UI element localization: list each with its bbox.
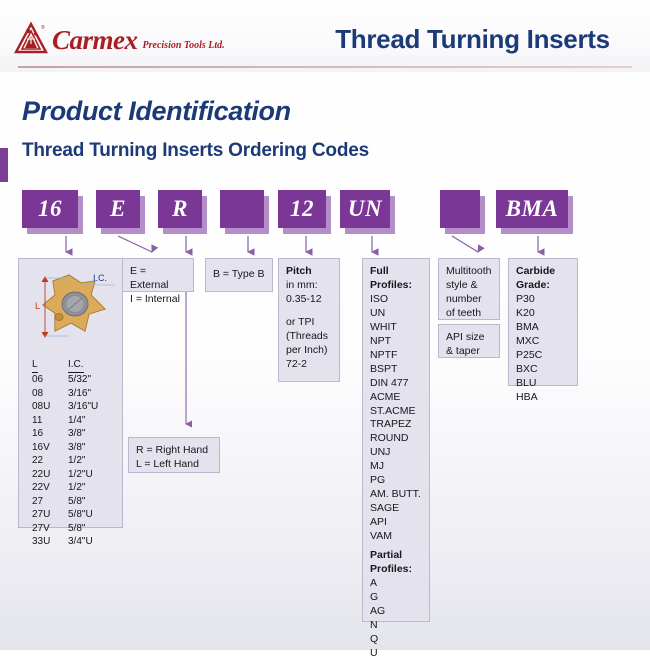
- cell-l: 27: [32, 495, 43, 509]
- accent-bar: [0, 148, 8, 182]
- list-item: G: [370, 591, 422, 605]
- page-subtitle: Thread Turning Inserts Ordering Codes: [22, 140, 369, 162]
- page-header-title: Thread Turning Inserts: [305, 24, 640, 55]
- panel-hand-direction: R = Right Hand L = Left Hand: [128, 437, 220, 473]
- table-row: 27U5/8"U: [18, 508, 123, 522]
- code-box-label: 12: [278, 190, 326, 228]
- cell-l: 16: [32, 427, 43, 441]
- pitch-tpi-note2: per Inch): [286, 344, 327, 356]
- insert-drawing: L I.C.: [19, 259, 122, 359]
- table-row: 163/8": [18, 427, 123, 441]
- brand-tagline: Precision Tools Ltd.: [143, 40, 225, 54]
- code-box-label: UN: [340, 190, 390, 228]
- cell-l: 27U: [32, 508, 50, 522]
- code-box-label: R: [158, 190, 202, 228]
- header-divider: [18, 66, 632, 68]
- cell-ic: 5/8": [68, 522, 85, 536]
- cell-l: 08U: [32, 400, 50, 414]
- dim-label-ic: I.C.: [93, 273, 107, 283]
- code-box-hand[interactable]: R: [158, 190, 202, 228]
- table-row: 27V5/8": [18, 522, 123, 536]
- table-row: 08U3/16"U: [18, 400, 123, 414]
- list-item: BMA: [516, 321, 570, 335]
- list-item: SAGE: [370, 502, 422, 516]
- partial-profiles-heading-line2: Profiles:: [370, 563, 422, 577]
- list-item: AM. BUTT.: [370, 488, 422, 502]
- panel-carbide-grade: Carbide Grade: P30K20BMAMXCP25CBXCBLUHBA: [508, 258, 578, 386]
- multitooth-line3: number: [446, 293, 482, 305]
- list-item: Q: [370, 633, 422, 647]
- cell-ic: 3/8": [68, 427, 85, 441]
- cell-ic: 1/4": [68, 414, 85, 428]
- list-item: WHIT: [370, 321, 422, 335]
- list-item: UN: [370, 307, 422, 321]
- cell-ic: 5/8": [68, 495, 85, 509]
- cell-ic: 1/2": [68, 481, 85, 495]
- code-box-multitooth[interactable]: [440, 190, 480, 228]
- carbide-grade-list: P30K20BMAMXCP25CBXCBLUHBA: [516, 293, 570, 405]
- cell-l: 08: [32, 387, 43, 401]
- code-box-grade[interactable]: BMA: [496, 190, 568, 228]
- external-label: E = External: [130, 265, 169, 291]
- left-hand-label: L = Left Hand: [136, 458, 199, 470]
- table-row: 275/8": [18, 495, 123, 509]
- full-profiles-list: ISOUNWHITNPTNPTFBSPTDIN 477ACMEST.ACMETR…: [370, 293, 422, 544]
- list-item: API: [370, 516, 422, 530]
- multitooth-line1: Multitooth: [446, 265, 492, 277]
- list-item: N: [370, 619, 422, 633]
- size-table-header-l: L: [32, 358, 38, 373]
- cell-ic: 1/2": [68, 454, 85, 468]
- table-row: 221/2": [18, 454, 123, 468]
- panel-external-internal: E = External I = Internal: [122, 258, 194, 292]
- cell-l: 06: [32, 373, 43, 387]
- list-item: BLU: [516, 377, 570, 391]
- cell-l: 22U: [32, 468, 50, 482]
- list-item: MXC: [516, 335, 570, 349]
- panel-multitooth: Multitooth style & number of teeth: [438, 258, 500, 320]
- page-background: ® Carmex Precision Tools Ltd. Thread Tur…: [0, 0, 650, 650]
- list-item: NPTF: [370, 349, 422, 363]
- cell-l: 22V: [32, 481, 50, 495]
- svg-text:®: ®: [41, 24, 45, 31]
- list-item: U: [370, 647, 422, 661]
- list-item: DIN 477: [370, 377, 422, 391]
- list-item: ISO: [370, 293, 422, 307]
- cell-l: 27V: [32, 522, 50, 536]
- full-profiles-heading-line2: Profiles:: [370, 279, 422, 293]
- list-item: NPT: [370, 335, 422, 349]
- list-item: TRAPEZ: [370, 418, 422, 432]
- code-box-profile[interactable]: UN: [340, 190, 390, 228]
- internal-label: I = Internal: [130, 293, 180, 305]
- cell-ic: 3/4"U: [68, 535, 93, 549]
- list-item: A: [370, 577, 422, 591]
- panel-api: API size & taper: [438, 324, 500, 358]
- page-header: ® Carmex Precision Tools Ltd. Thread Tur…: [0, 0, 650, 72]
- table-row: 065/32": [18, 373, 123, 387]
- api-size-label: API size: [446, 331, 485, 343]
- pitch-range-mm: 0.35-12: [286, 293, 322, 305]
- pitch-heading: Pitch: [286, 265, 332, 279]
- code-box-label: E: [96, 190, 140, 228]
- panel-pitch: Pitch in mm: 0.35-12 or TPI (Threads per…: [278, 258, 340, 382]
- cell-ic: 3/16": [68, 387, 91, 401]
- pitch-range-tpi: 72-2: [286, 358, 307, 370]
- table-row: 083/16": [18, 387, 123, 401]
- carbide-heading-line1: Carbide: [516, 265, 570, 279]
- cell-ic: 5/32": [68, 373, 91, 387]
- pitch-tpi-note1: (Threads: [286, 330, 328, 342]
- multitooth-line4: of teeth: [446, 307, 481, 319]
- list-item: P30: [516, 293, 570, 307]
- list-item: HBA: [516, 391, 570, 405]
- multitooth-line2: style &: [446, 279, 478, 291]
- table-row: 33U3/4"U: [18, 535, 123, 549]
- cell-ic: 1/2"U: [68, 468, 93, 482]
- carbide-heading-line2: Grade:: [516, 279, 570, 293]
- list-item: ST.ACME: [370, 405, 422, 419]
- cell-l: 22: [32, 454, 43, 468]
- list-item: ACME: [370, 391, 422, 405]
- size-table-header-ic: I.C.: [68, 358, 84, 373]
- list-item: VAM: [370, 530, 422, 544]
- cell-l: 33U: [32, 535, 50, 549]
- pitch-tpi-label: or TPI: [286, 316, 314, 328]
- carmex-triangle-icon: ®: [14, 22, 48, 54]
- code-box-pitch[interactable]: 12: [278, 190, 326, 228]
- code-box-label: [440, 190, 480, 228]
- dim-label-l: L: [35, 301, 40, 311]
- cell-l: 11: [32, 414, 42, 428]
- table-row: 22U1/2"U: [18, 468, 123, 482]
- list-item: BSPT: [370, 363, 422, 377]
- api-taper-label: & taper: [446, 345, 480, 357]
- panel-type-b: B = Type B: [205, 258, 273, 292]
- full-profiles-heading-line1: Full: [370, 265, 422, 279]
- list-item: P25C: [516, 349, 570, 363]
- cell-l: 16V: [32, 441, 50, 455]
- right-hand-label: R = Right Hand: [136, 444, 208, 456]
- list-item: PG: [370, 474, 422, 488]
- list-item: ROUND: [370, 432, 422, 446]
- panel-profiles: Full Profiles: ISOUNWHITNPTNPTFBSPTDIN 4…: [362, 258, 430, 622]
- code-box-label: BMA: [496, 190, 568, 228]
- list-item: BXC: [516, 363, 570, 377]
- table-row: 16V3/8": [18, 441, 123, 455]
- code-box-label: [220, 190, 264, 228]
- pitch-unit: in mm:: [286, 279, 318, 291]
- type-b-label: B = Type B: [213, 268, 264, 282]
- company-logo: ® Carmex Precision Tools Ltd.: [14, 22, 225, 54]
- pitch-spacer: [286, 307, 332, 316]
- size-table: LI.C.065/32"083/16"08U3/16"U111/4"163/8"…: [18, 358, 123, 549]
- list-item: MJ: [370, 460, 422, 474]
- list-item: UNJ: [370, 446, 422, 460]
- cell-ic: 3/16"U: [68, 400, 98, 414]
- code-box-size[interactable]: 16: [22, 190, 78, 228]
- code-box-external-internal[interactable]: E: [96, 190, 140, 228]
- cell-ic: 5/8"U: [68, 508, 93, 522]
- cell-ic: 3/8": [68, 441, 85, 455]
- brand-name: Carmex: [52, 27, 138, 54]
- code-box-type[interactable]: [220, 190, 264, 228]
- code-box-label: 16: [22, 190, 78, 228]
- list-item: K20: [516, 307, 570, 321]
- list-item: AG: [370, 605, 422, 619]
- table-row: 22V1/2": [18, 481, 123, 495]
- partial-profiles-heading-line1: Partial: [370, 549, 422, 563]
- partial-profiles-list: AGAGNQU: [370, 577, 422, 661]
- table-row: 111/4": [18, 414, 123, 428]
- page-title: Product Identification: [22, 96, 291, 127]
